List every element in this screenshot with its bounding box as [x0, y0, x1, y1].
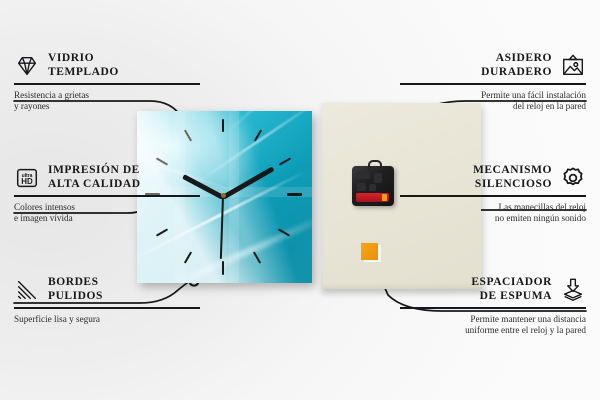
feature-title-line1: VIDRIO: [48, 52, 119, 66]
clock-mechanism: [352, 166, 394, 206]
feature-desc-line2: del reloj en la pared: [400, 101, 586, 113]
divider: [400, 195, 586, 197]
infographic-stage: VIDRIO TEMPLADO Resistencia a grietas y …: [0, 0, 600, 400]
feature-title-line1: MECANISMO: [473, 164, 552, 178]
feature-title-line1: ASIDERO: [481, 52, 552, 66]
divider: [14, 195, 200, 197]
feature-title-line2: TEMPLADO: [48, 66, 119, 80]
svg-text:HD: HD: [21, 177, 33, 186]
feature-impresion-alta-calidad[interactable]: ultra HD IMPRESIÓN DE ALTA CALIDAD Color…: [14, 164, 200, 225]
feature-title-line2: DURADERO: [481, 66, 552, 80]
polished-edges-icon: [14, 277, 40, 303]
feature-desc-line2: e imagen vívida: [14, 213, 200, 225]
clock-second-hand: [220, 197, 224, 259]
feature-vidrio-templado[interactable]: VIDRIO TEMPLADO Resistencia a grietas y …: [14, 52, 200, 113]
ultra-hd-icon: ultra HD: [14, 165, 40, 191]
feature-title-line1: ESPACIADOR: [471, 276, 552, 290]
divider: [14, 307, 200, 309]
feature-desc-line1: Permite mantener una distancia: [400, 314, 586, 326]
feature-bordes-pulidos[interactable]: BORDES PULIDOS Superficie lisa y segura: [14, 276, 200, 325]
hanging-frame-icon: [560, 53, 586, 79]
feature-desc-line2: uniforme entre el reloj y la pared: [400, 325, 586, 337]
feature-asidero-duradero[interactable]: ASIDERO DURADERO Permite una fácil insta…: [400, 52, 586, 113]
feature-desc-line1: Superficie lisa y segura: [14, 314, 200, 326]
feature-desc-line2: y rayones: [14, 101, 200, 113]
feature-desc-line1: Permite una fácil instalación: [400, 90, 586, 102]
feature-desc-line1: Las manecillas del reloj: [400, 202, 586, 214]
divider: [14, 83, 200, 85]
diamond-icon: [14, 53, 40, 79]
feature-desc-line2: no emiten ningún sonido: [400, 213, 586, 225]
feature-title-line2: ALTA CALIDAD: [48, 178, 141, 192]
feature-desc-line1: Resistencia a grietas: [14, 90, 200, 102]
feature-mecanismo-silencioso[interactable]: MECANISMO SILENCIOSO Las manecillas del …: [400, 164, 586, 225]
feature-title-line1: BORDES: [48, 276, 103, 290]
feature-title-line2: PULIDOS: [48, 290, 103, 304]
feature-title-line2: SILENCIOSO: [473, 178, 552, 192]
foam-spacer-icon: [560, 277, 586, 303]
foam-spacer-part: [361, 243, 378, 260]
feature-desc-line1: Colores intensos: [14, 202, 200, 214]
feature-espaciador-espuma[interactable]: ESPACIADOR DE ESPUMA Permite mantener un…: [400, 276, 586, 337]
feature-title-line1: IMPRESIÓN DE: [48, 164, 141, 178]
divider: [400, 83, 586, 85]
divider: [400, 307, 586, 309]
feature-title-line2: DE ESPUMA: [471, 290, 552, 304]
gear-icon: [560, 165, 586, 191]
